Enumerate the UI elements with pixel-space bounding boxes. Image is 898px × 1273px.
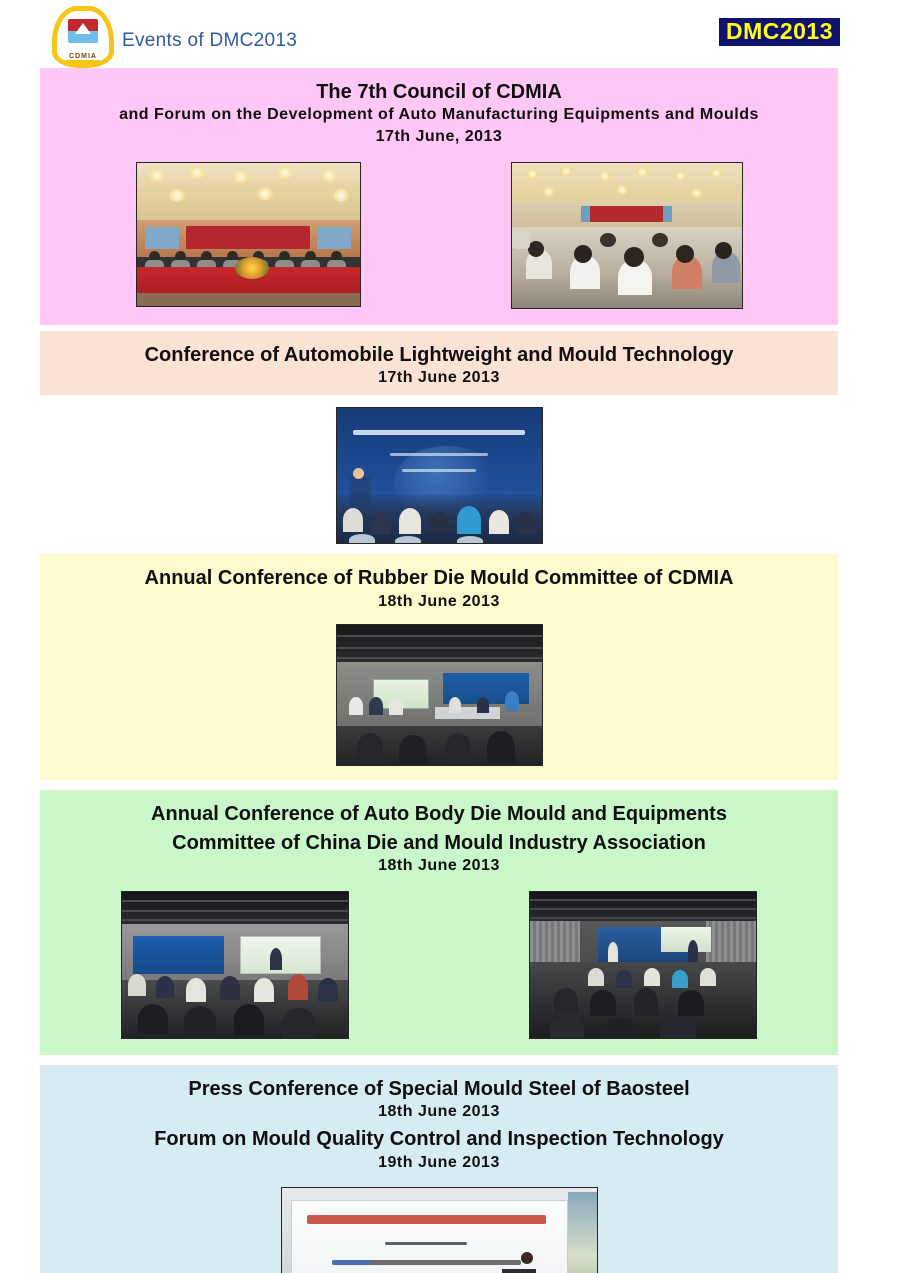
event-section-lightweight: Conference of Automobile Lightweight and… [40,331,838,395]
auto-body-die-side-room-photo [529,891,757,1039]
section-photos [40,612,838,780]
section-date-2: 19th June 2013 [40,1152,838,1174]
section-gap [0,780,898,790]
section-title: Press Conference of Special Mould Steel … [40,1073,838,1101]
section-date: 18th June 2013 [40,855,838,877]
section-photos [40,148,838,325]
page-masthead: CDMIA Events of DMC2013 DMC2013 [0,0,898,68]
section-title-line2: Committee of China Die and Mould Industr… [40,827,838,855]
section-title: Annual Conference of Auto Body Die Mould… [40,798,838,826]
section-photos [40,403,838,548]
section-photos [40,877,838,1055]
section-title: Conference of Automobile Lightweight and… [40,339,838,367]
logo-label: CDMIA [52,53,114,60]
council-head-table-photo [136,162,361,307]
lightweight-conference-photo [336,407,543,544]
section-subtitle: and Forum on the Development of Auto Man… [40,104,838,126]
section-photos [40,1173,838,1273]
page-title: Events of DMC2013 [122,30,297,52]
rubber-die-meeting-photo [336,624,543,766]
events-poster-page: CDMIA Events of DMC2013 DMC2013 The 7th … [0,0,898,1273]
section-title: The 7th Council of CDMIA [40,76,838,104]
section-date: 18th June 2013 [40,1101,838,1123]
mould-inspection-forum-photo [281,1187,598,1273]
dmc2013-badge: DMC2013 [719,18,840,46]
section-date: 17th June 2013 [40,367,838,389]
event-section-auto-body-die: Annual Conference of Auto Body Die Mould… [40,790,838,1055]
section-date: 18th June 2013 [40,591,838,613]
section-date: 17th June, 2013 [40,126,838,148]
section-gap [0,1055,898,1065]
auto-body-die-hall-photo [121,891,349,1039]
event-section-baosteel-press: Press Conference of Special Mould Steel … [40,1065,838,1273]
event-section-council: The 7th Council of CDMIA and Forum on th… [40,68,838,325]
section-title-line2: Forum on Mould Quality Control and Inspe… [40,1123,838,1151]
council-audience-photo [511,162,743,309]
lightweight-photo-band [40,395,838,548]
section-title: Annual Conference of Rubber Die Mould Co… [40,562,838,590]
cdmia-shield-logo-icon: CDMIA [52,6,114,68]
event-section-rubber-die: Annual Conference of Rubber Die Mould Co… [40,554,838,780]
